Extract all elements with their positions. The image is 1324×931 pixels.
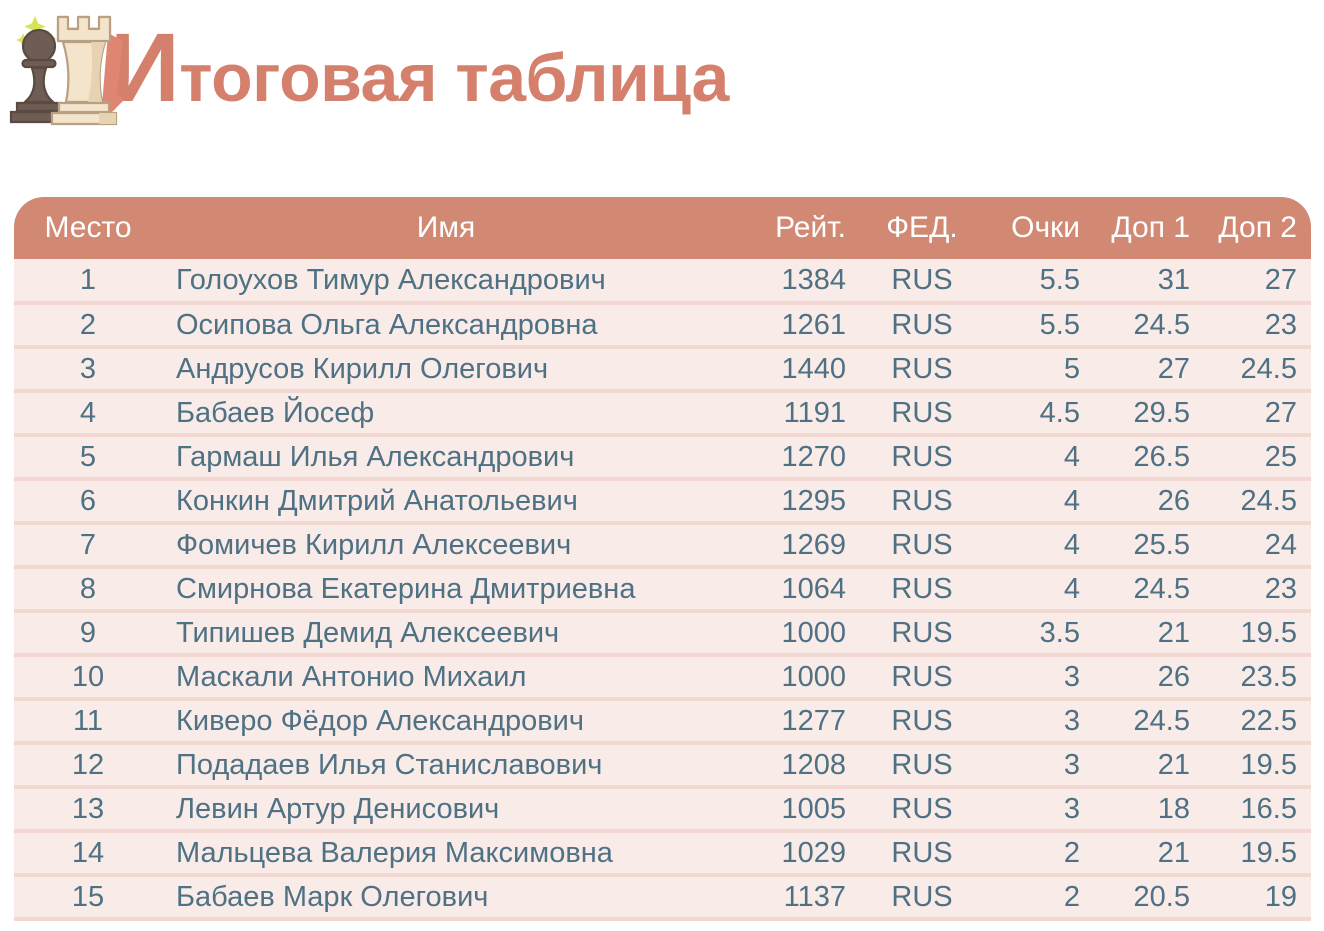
cell-tb1: 26.5 [1094,435,1204,479]
table-row[interactable]: 7Фомичев Кирилл Алексеевич1269RUS425.524 [14,523,1311,567]
cell-place: 6 [14,479,162,523]
cell-rating: 1270 [730,435,860,479]
table-row[interactable]: 12Подадаев Илья Станиславович1208RUS3211… [14,743,1311,787]
cell-tb2: 23 [1204,567,1311,611]
cell-tb2: 24.5 [1204,479,1311,523]
header-row: Место Имя Рейт. ФЕД. Очки Доп 1 Доп 2 [14,197,1311,259]
cell-tb1: 24.5 [1094,567,1204,611]
table-row[interactable]: 1Голоухов Тимур Александрович1384RUS5.53… [14,259,1311,303]
cell-rating: 1269 [730,523,860,567]
cell-fed: RUS [860,523,984,567]
cell-tb2: 24.5 [1204,347,1311,391]
cell-name: Мальцева Валерия Максимовна [162,831,730,875]
cell-points: 4 [984,479,1094,523]
table-row[interactable]: 8Смирнова Екатерина Дмитриевна1064RUS424… [14,567,1311,611]
cell-tb2: 23 [1204,303,1311,347]
cell-fed: RUS [860,875,984,919]
table-body: 1Голоухов Тимур Александрович1384RUS5.53… [14,259,1311,919]
cell-points: 4 [984,523,1094,567]
cell-tb1: 21 [1094,611,1204,655]
cell-name: Подадаев Илья Станиславович [162,743,730,787]
cell-name: Голоухов Тимур Александрович [162,259,730,303]
cell-place: 10 [14,655,162,699]
cell-name: Осипова Ольга Александровна [162,303,730,347]
cell-name: Левин Артур Денисович [162,787,730,831]
table-row[interactable]: 13Левин Артур Денисович1005RUS31816.5 [14,787,1311,831]
cell-points: 3 [984,787,1094,831]
cell-fed: RUS [860,831,984,875]
cell-points: 2 [984,875,1094,919]
cell-points: 3.5 [984,611,1094,655]
cell-rating: 1295 [730,479,860,523]
cell-rating: 1000 [730,611,860,655]
cell-tb2: 27 [1204,259,1311,303]
title-block: Итоговая таблица [0,0,729,140]
cell-tb1: 25.5 [1094,523,1204,567]
cell-tb1: 21 [1094,831,1204,875]
cell-tb1: 20.5 [1094,875,1204,919]
cell-rating: 1191 [730,391,860,435]
page-title: Итоговая таблица [110,19,729,122]
cell-place: 5 [14,435,162,479]
cell-place: 11 [14,699,162,743]
cell-tb2: 24 [1204,523,1311,567]
cell-name: Фомичев Кирилл Алексеевич [162,523,730,567]
cell-place: 13 [14,787,162,831]
table-row[interactable]: 6Конкин Дмитрий Анатольевич1295RUS42624.… [14,479,1311,523]
cell-rating: 1261 [730,303,860,347]
cell-points: 3 [984,743,1094,787]
cell-place: 12 [14,743,162,787]
cell-tb2: 25 [1204,435,1311,479]
table-row[interactable]: 9Типишев Демид Алексеевич1000RUS3.52119.… [14,611,1311,655]
cell-tb2: 19.5 [1204,611,1311,655]
cell-fed: RUS [860,259,984,303]
cell-tb2: 16.5 [1204,787,1311,831]
cell-rating: 1277 [730,699,860,743]
chess-pieces-logo-icon [2,6,134,134]
cell-name: Смирнова Екатерина Дмитриевна [162,567,730,611]
cell-rating: 1208 [730,743,860,787]
table-row[interactable]: 15Бабаев Марк Олегович1137RUS220.519 [14,875,1311,919]
cell-place: 4 [14,391,162,435]
cell-tb2: 27 [1204,391,1311,435]
cell-fed: RUS [860,479,984,523]
cell-points: 3 [984,699,1094,743]
cell-rating: 1064 [730,567,860,611]
table-header: Место Имя Рейт. ФЕД. Очки Доп 1 Доп 2 [14,197,1311,259]
cell-place: 14 [14,831,162,875]
cell-points: 5.5 [984,259,1094,303]
cell-name: Маскали Антонио Михаил [162,655,730,699]
cell-tb1: 27 [1094,347,1204,391]
cell-name: Конкин Дмитрий Анатольевич [162,479,730,523]
cell-name: Андрусов Кирилл Олегович [162,347,730,391]
cell-place: 7 [14,523,162,567]
cell-name: Гармаш Илья Александрович [162,435,730,479]
cell-place: 9 [14,611,162,655]
cell-rating: 1440 [730,347,860,391]
header-rating[interactable]: Рейт. [730,197,860,259]
table-row[interactable]: 14Мальцева Валерия Максимовна1029RUS2211… [14,831,1311,875]
table-row[interactable]: 5Гармаш Илья Александрович1270RUS426.525 [14,435,1311,479]
cell-points: 4.5 [984,391,1094,435]
header-place[interactable]: Место [14,197,162,259]
cell-tb1: 26 [1094,479,1204,523]
cell-tb1: 24.5 [1094,699,1204,743]
cell-fed: RUS [860,347,984,391]
cell-tb2: 23.5 [1204,655,1311,699]
cell-tb2: 22.5 [1204,699,1311,743]
standings-table: Место Имя Рейт. ФЕД. Очки Доп 1 Доп 2 1Г… [14,197,1311,921]
cell-name: Типишев Демид Алексеевич [162,611,730,655]
cell-name: Бабаев Марк Олегович [162,875,730,919]
cell-tb2: 19 [1204,875,1311,919]
header-points[interactable]: Очки [984,197,1094,259]
cell-rating: 1005 [730,787,860,831]
cell-fed: RUS [860,611,984,655]
cell-tb1: 29.5 [1094,391,1204,435]
table-row[interactable]: 2Осипова Ольга Александровна1261RUS5.524… [14,303,1311,347]
cell-tb1: 26 [1094,655,1204,699]
cell-fed: RUS [860,435,984,479]
cell-rating: 1384 [730,259,860,303]
table-row[interactable]: 10Маскали Антонио Михаил1000RUS32623.5 [14,655,1311,699]
cell-tb1: 18 [1094,787,1204,831]
cell-fed: RUS [860,567,984,611]
cell-rating: 1029 [730,831,860,875]
cell-place: 2 [14,303,162,347]
cell-fed: RUS [860,743,984,787]
cell-points: 5.5 [984,303,1094,347]
table-row[interactable]: 3Андрусов Кирилл Олегович1440RUS52724.5 [14,347,1311,391]
cell-rating: 1137 [730,875,860,919]
cell-fed: RUS [860,303,984,347]
slide-root: Итоговая таблица Место Имя Рейт. ФЕД. Оч… [0,0,1324,931]
cell-points: 4 [984,567,1094,611]
header-tb1[interactable]: Доп 1 [1094,197,1204,259]
page-title-rest: тоговая таблица [179,40,729,116]
cell-place: 3 [14,347,162,391]
table-row[interactable]: 11Киверо Фёдор Александрович1277RUS324.5… [14,699,1311,743]
cell-name: Киверо Фёдор Александрович [162,699,730,743]
cell-fed: RUS [860,787,984,831]
table-row[interactable]: 4Бабаев Йосеф1191RUS4.529.527 [14,391,1311,435]
cell-points: 4 [984,435,1094,479]
cell-rating: 1000 [730,655,860,699]
header-name[interactable]: Имя [162,197,730,259]
cell-place: 15 [14,875,162,919]
cell-tb1: 21 [1094,743,1204,787]
cell-place: 8 [14,567,162,611]
standings-table-container: Место Имя Рейт. ФЕД. Очки Доп 1 Доп 2 1Г… [14,197,1311,921]
cell-tb2: 19.5 [1204,831,1311,875]
cell-points: 5 [984,347,1094,391]
cell-fed: RUS [860,391,984,435]
cell-tb2: 19.5 [1204,743,1311,787]
cell-name: Бабаев Йосеф [162,391,730,435]
cell-place: 1 [14,259,162,303]
header-tb2[interactable]: Доп 2 [1204,197,1311,259]
cell-tb1: 31 [1094,259,1204,303]
cell-points: 3 [984,655,1094,699]
header-fed[interactable]: ФЕД. [860,197,984,259]
cell-tb1: 24.5 [1094,303,1204,347]
cell-fed: RUS [860,699,984,743]
cell-fed: RUS [860,655,984,699]
cell-points: 2 [984,831,1094,875]
